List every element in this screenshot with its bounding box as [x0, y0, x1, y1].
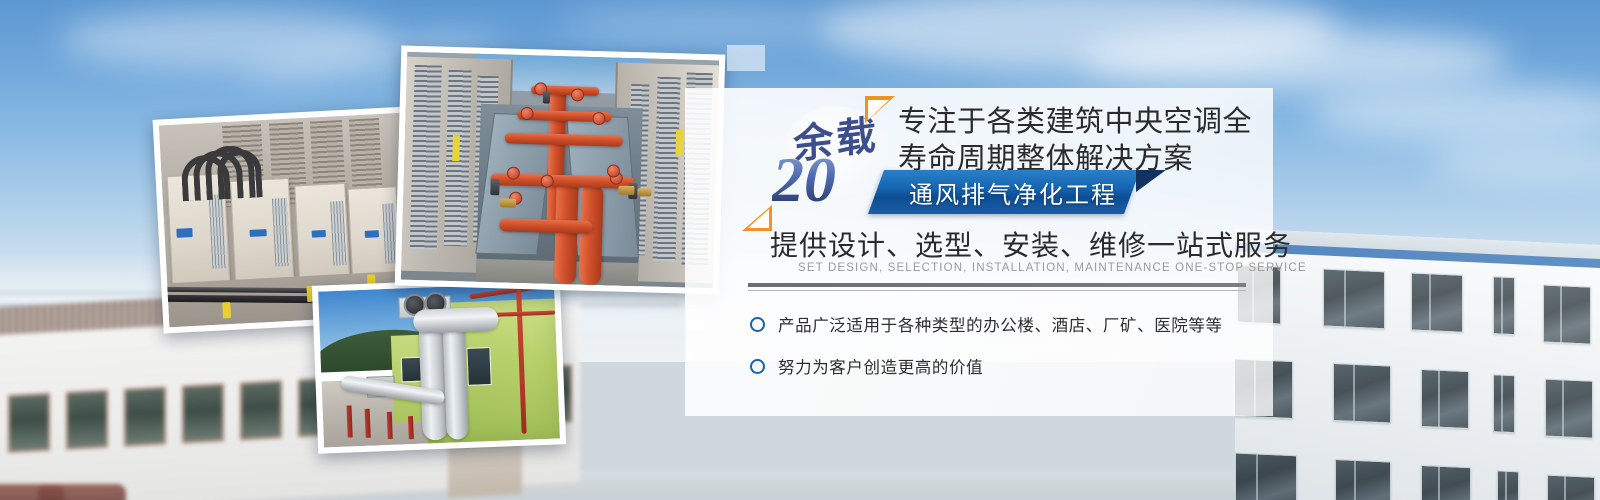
list-item: 努力为客户创造更高的价值 — [750, 354, 1223, 378]
list-item: 产品广泛适用于各种类型的办公楼、酒店、厂矿、医院等等 — [750, 312, 1223, 336]
subheadline: 提供设计、选型、安装、维修一站式服务 — [770, 224, 1292, 264]
cloud — [1080, 28, 1510, 90]
seal-years-number: 20 — [772, 148, 836, 212]
banner-stage: 余载 20 专注于各类建筑中央空调全寿命周期整体解决方案 通风排气净化工程 提供… — [0, 0, 1600, 500]
arrow-down-left-icon — [742, 205, 772, 231]
ribbon-label: 通风排气净化工程 — [898, 170, 1128, 214]
service-ribbon: 通风排气净化工程 — [862, 170, 1162, 214]
circle-bullet-icon — [750, 317, 765, 332]
circle-bullet-icon — [750, 359, 765, 374]
headline: 专注于各类建筑中央空调全寿命周期整体解决方案 — [898, 104, 1268, 178]
divider-thick — [748, 283, 1246, 287]
photo-chiller-pipework[interactable] — [395, 46, 726, 295]
cloud — [1310, 84, 1600, 142]
subheadline-en: SET DESIGN, SELECTION, INSTALLATION, MAI… — [798, 262, 1307, 274]
cloud — [560, 4, 860, 44]
photo-rooftop-insulated-pipes[interactable] — [312, 276, 566, 453]
bullet-list: 产品广泛适用于各种类型的办公楼、酒店、厂矿、医院等等 努力为客户创造更高的价值 — [750, 312, 1223, 396]
arrow-up-right-icon — [865, 96, 895, 123]
panel-accent-chip — [727, 45, 765, 71]
bullet-text: 努力为客户创造更高的价值 — [778, 354, 983, 378]
bullet-text: 产品广泛适用于各种类型的办公楼、酒店、厂矿、医院等等 — [778, 312, 1223, 336]
cloud — [1430, 140, 1600, 186]
divider-thin — [748, 290, 1246, 291]
ribbon-fold-icon — [1136, 170, 1166, 192]
